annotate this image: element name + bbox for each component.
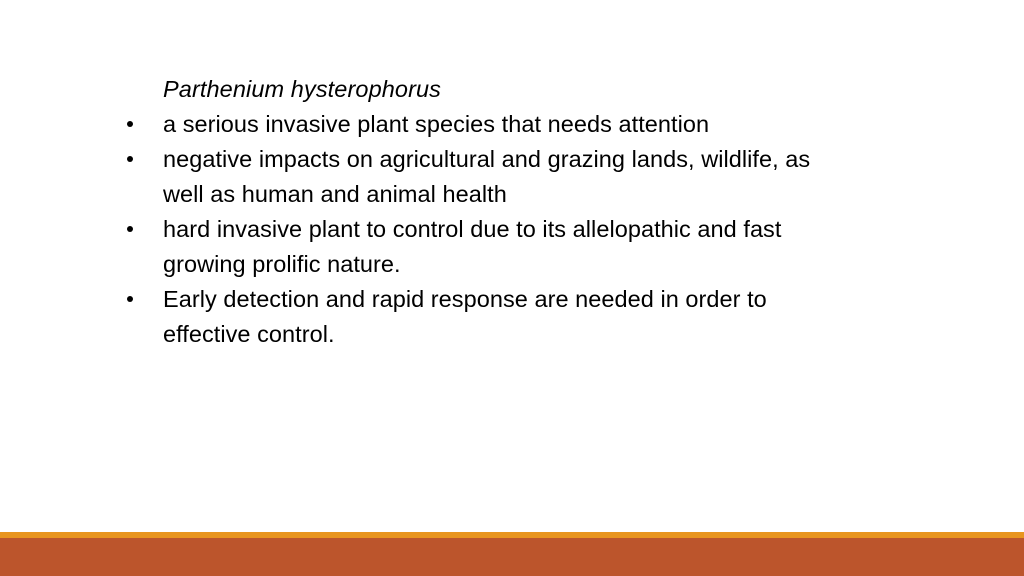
bullet-dot-icon xyxy=(127,226,133,232)
list-item: Early detection and rapid response are n… xyxy=(120,282,820,352)
list-item: hard invasive plant to control due to it… xyxy=(120,212,820,282)
slide-canvas: Parthenium hysterophorus a serious invas… xyxy=(0,0,1024,576)
footer-color-band xyxy=(0,538,1024,576)
list-item-text: Early detection and rapid response are n… xyxy=(163,282,820,352)
list-item-text: hard invasive plant to control due to it… xyxy=(163,212,820,282)
list-item: negative impacts on agricultural and gra… xyxy=(120,142,820,212)
bullet-dot-icon xyxy=(127,296,133,302)
list-item: a serious invasive plant species that ne… xyxy=(120,107,820,142)
list-item-text: negative impacts on agricultural and gra… xyxy=(163,142,820,212)
list-item-text: a serious invasive plant species that ne… xyxy=(163,107,820,142)
species-name-heading: Parthenium hysterophorus xyxy=(163,72,820,107)
bullet-list: a serious invasive plant species that ne… xyxy=(120,107,820,352)
slide-content-body: Parthenium hysterophorus a serious invas… xyxy=(120,72,820,352)
bullet-dot-icon xyxy=(127,121,133,127)
bullet-dot-icon xyxy=(127,156,133,162)
